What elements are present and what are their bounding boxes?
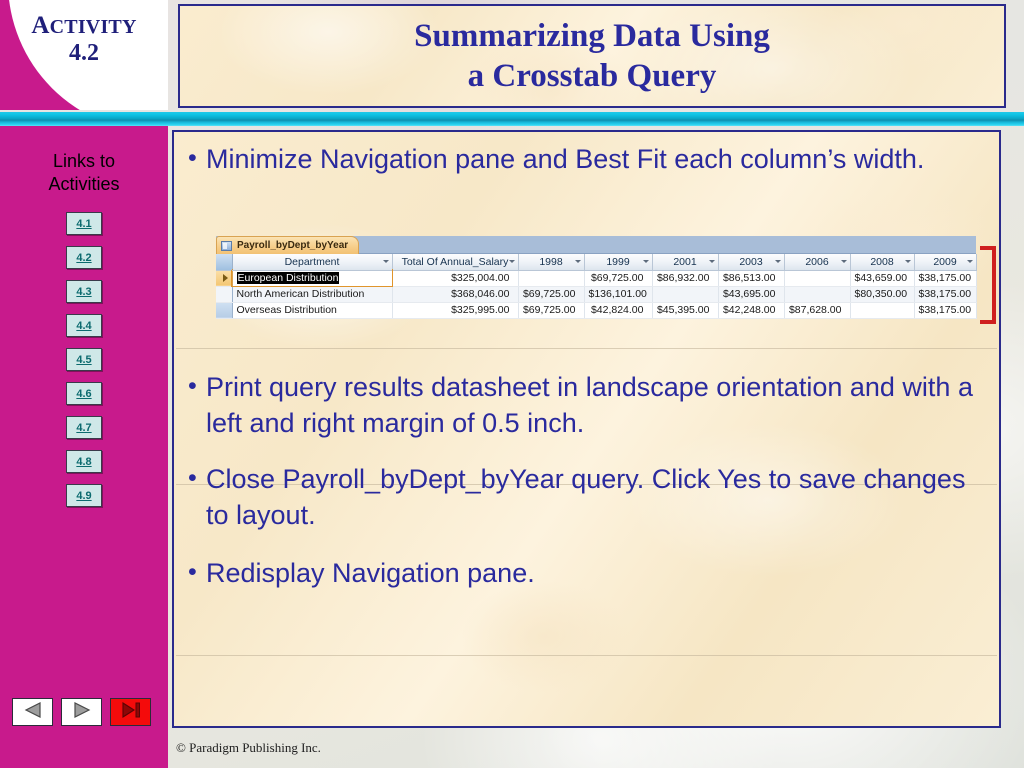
sidebar-item-4-5[interactable]: 4.5 [66,348,102,371]
column-header-2001-label: 2001 [673,256,696,268]
activity-badge: ACTIVITY 4.2 [0,0,168,110]
cell-2008[interactable]: $43,659.00 [850,270,914,286]
cell-2003[interactable]: $42,248.00 [718,302,784,318]
access-datasheet-figure: Payroll_byDept_byYear [216,236,976,319]
content-box: • Minimize Navigation pane and Best Fit … [172,130,1001,728]
cell-department[interactable]: European Distribution [232,270,392,286]
column-header-2008[interactable]: 2008 [850,254,914,270]
sidebar-item-4-2[interactable]: 4.2 [66,246,102,269]
cell-total[interactable]: $325,004.00 [392,270,518,286]
column-header-2009[interactable]: 2009 [914,254,976,270]
column-header-1998-label: 1998 [539,256,562,268]
bullet-dot-icon: • [188,462,206,534]
bullet-list-top: • Minimize Navigation pane and Best Fit … [188,142,988,182]
bullet-item-4: • Redisplay Navigation pane. [188,556,988,592]
cell-2003[interactable]: $43,695.00 [718,286,784,302]
column-header-2009-label: 2009 [933,256,956,268]
badge-activity-rest: CTIVITY [50,16,137,38]
cell-2009[interactable]: $38,175.00 [914,302,976,318]
column-header-1999-label: 1999 [606,256,629,268]
column-header-department-label: Department [285,256,340,268]
bullet-item-1: • Minimize Navigation pane and Best Fit … [188,142,988,178]
column-header-2006[interactable]: 2006 [784,254,850,270]
cell-department[interactable]: North American Distribution [232,286,392,302]
bullet-item-2: • Print query results datasheet in lands… [188,370,988,442]
column-header-total-of-annual-salary[interactable]: Total Of Annual_Salary [392,254,518,270]
sidebar-item-4-9[interactable]: 4.9 [66,484,102,507]
datasheet-tab-row: Payroll_byDept_byYear [216,236,976,254]
content-hairline-3 [176,655,997,656]
bullet-dot-icon: • [188,142,206,178]
sidebar-heading: Links to Activities [0,150,168,196]
chevron-down-icon[interactable] [967,260,973,263]
slide: ACTIVITY 4.2 Summarizing Data Using a Cr… [0,0,1024,768]
cell-2001[interactable]: $86,932.00 [652,270,718,286]
column-header-1999[interactable]: 1999 [584,254,652,270]
sidebar-item-4-4[interactable]: 4.4 [66,314,102,337]
sidebar-item-4-1[interactable]: 4.1 [66,212,102,235]
last-slide-button[interactable] [110,698,151,726]
next-slide-icon [72,701,92,724]
badge-text: ACTIVITY 4.2 [0,12,168,67]
chevron-down-icon[interactable] [509,260,515,263]
cell-2009[interactable]: $38,175.00 [914,286,976,302]
sidebar-heading-line2: Activities [0,173,168,196]
chevron-down-icon[interactable] [643,260,649,263]
badge-activity-first-letter: A [31,12,49,39]
cell-1998[interactable]: $69,725.00 [518,286,584,302]
cell-total[interactable]: $368,046.00 [392,286,518,302]
column-header-2001[interactable]: 2001 [652,254,718,270]
datasheet-tab-label: Payroll_byDept_byYear [237,240,348,251]
sidebar-item-4-3[interactable]: 4.3 [66,280,102,303]
bullet-item-3-text: Close Payroll_byDept_byYear query. Click… [206,462,988,534]
bullet-item-4-text: Redisplay Navigation pane. [206,556,988,592]
column-header-2006-label: 2006 [805,256,828,268]
column-header-2008-label: 2008 [870,256,893,268]
table-row[interactable]: North American Distribution $368,046.00 … [216,286,976,302]
red-bracket-callout-icon [980,246,996,324]
page-title-line2: a Crosstab Query [414,56,770,96]
cell-total[interactable]: $325,995.00 [392,302,518,318]
row-selector[interactable] [216,302,232,318]
column-header-2003[interactable]: 2003 [718,254,784,270]
cell-1999[interactable]: $69,725.00 [584,270,652,286]
cell-1998[interactable] [518,270,584,286]
cell-2001[interactable] [652,286,718,302]
cell-2006[interactable] [784,286,850,302]
sidebar-item-4-7[interactable]: 4.7 [66,416,102,439]
bullet-list-bottom: • Print query results datasheet in lands… [188,370,988,596]
cell-1998[interactable]: $69,725.00 [518,302,584,318]
cyan-divider-bar [0,112,1024,126]
chevron-down-icon[interactable] [841,260,847,263]
chevron-down-icon[interactable] [709,260,715,263]
cell-2006[interactable] [784,270,850,286]
sidebar-item-4-8[interactable]: 4.8 [66,450,102,473]
chevron-down-icon[interactable] [575,260,581,263]
datasheet-table: Department Total Of Annual_Salary 1998 [216,254,977,319]
navigation-buttons [12,698,151,726]
bullet-item-3: • Close Payroll_byDept_byYear query. Cli… [188,462,988,534]
page-title-line1: Summarizing Data Using [414,16,770,56]
footer-copyright: © Paradigm Publishing Inc. [176,740,321,756]
cell-2003[interactable]: $86,513.00 [718,270,784,286]
column-header-2003-label: 2003 [739,256,762,268]
row-selector[interactable] [216,286,232,302]
page-title: Summarizing Data Using a Crosstab Query [414,16,770,97]
column-header-department[interactable]: Department [232,254,392,270]
badge-activity-number: 4.2 [0,40,168,67]
cell-2008[interactable]: $80,350.00 [850,286,914,302]
sidebar: Links to Activities 4.1 4.2 4.3 4.4 4.5 … [0,126,168,768]
cell-2001[interactable]: $45,395.00 [652,302,718,318]
datasheet-header-row: Department Total Of Annual_Salary 1998 [216,254,976,270]
cell-1999[interactable]: $136,101.00 [584,286,652,302]
sidebar-links-list: 4.1 4.2 4.3 4.4 4.5 4.6 4.7 4.8 4.9 [0,212,168,518]
chevron-down-icon[interactable] [383,260,389,263]
sidebar-heading-line1: Links to [0,150,168,173]
cell-2006[interactable]: $87,628.00 [784,302,850,318]
table-row[interactable]: European Distribution $325,004.00 $69,72… [216,270,976,286]
next-slide-button[interactable] [61,698,102,726]
column-header-total-label: Total Of Annual_Salary [402,256,509,268]
last-slide-icon [119,701,143,724]
bullet-item-1-text: Minimize Navigation pane and Best Fit ea… [206,142,988,178]
table-row[interactable]: Overseas Distribution $325,995.00 $69,72… [216,302,976,318]
badge-activity-label: ACTIVITY [0,12,168,40]
cell-department-value: European Distribution [237,272,340,284]
datasheet-tab-payroll-bydept-byyear[interactable]: Payroll_byDept_byYear [216,236,359,254]
bullet-item-2-text: Print query results datasheet in landsca… [206,370,988,442]
title-box: Summarizing Data Using a Crosstab Query [178,4,1006,108]
content-hairline-1 [176,348,997,349]
column-header-1998[interactable]: 1998 [518,254,584,270]
previous-slide-button[interactable] [12,698,53,726]
select-all-corner[interactable] [216,254,232,270]
previous-slide-icon [23,701,43,724]
bullet-dot-icon: • [188,556,206,592]
bullet-dot-icon: • [188,370,206,442]
cell-1999[interactable]: $42,824.00 [584,302,652,318]
query-icon [221,241,232,251]
cell-department[interactable]: Overseas Distribution [232,302,392,318]
chevron-down-icon[interactable] [775,260,781,263]
cell-2008[interactable] [850,302,914,318]
cell-2009[interactable]: $38,175.00 [914,270,976,286]
chevron-down-icon[interactable] [905,260,911,263]
row-selector-current[interactable] [216,270,232,286]
sidebar-item-4-6[interactable]: 4.6 [66,382,102,405]
